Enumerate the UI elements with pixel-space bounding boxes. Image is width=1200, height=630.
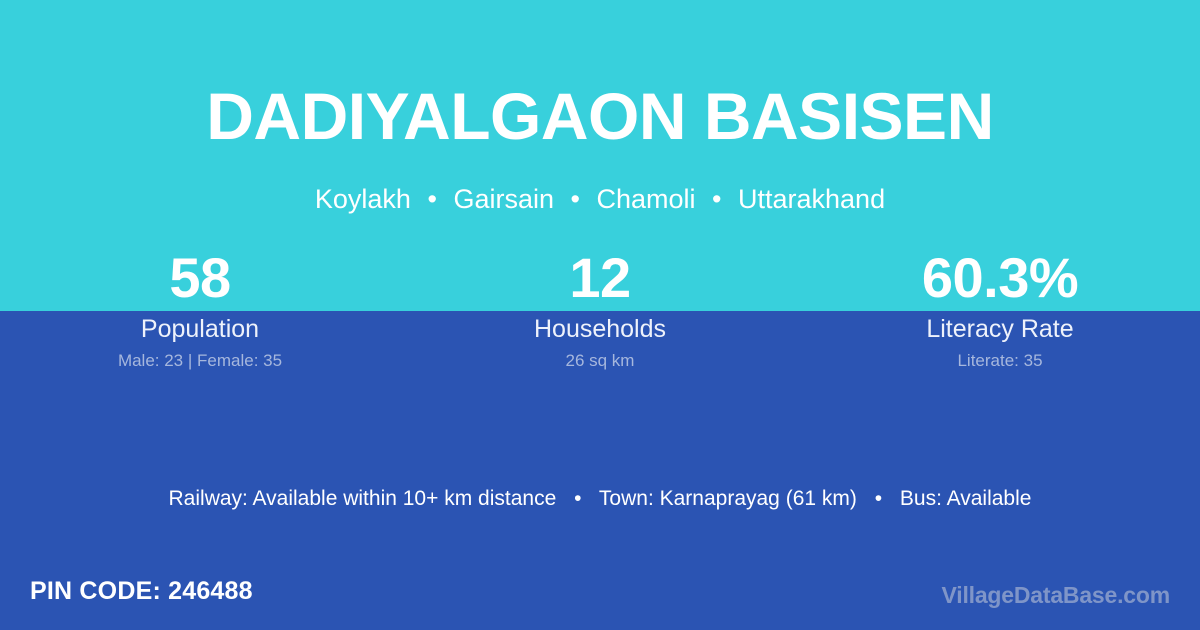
stat-value: 58 [0,246,400,310]
breadcrumb-separator: • [703,184,730,214]
infrastructure-separator: • [562,487,593,510]
breadcrumb-item-district-subunit: Koylakh [315,184,411,214]
breadcrumb-item-district: Chamoli [596,184,695,214]
stat-value: 60.3% [800,246,1200,310]
page-title: DADIYALGAON BASISEN [0,82,1200,151]
breadcrumb: Koylakh • Gairsain • Chamoli • Uttarakha… [0,183,1200,215]
breadcrumb-separator: • [418,184,445,214]
breadcrumb-item-state: Uttarakhand [738,184,885,214]
breadcrumb-item-block: Gairsain [453,184,554,214]
infrastructure-line: Railway: Available within 10+ km distanc… [0,485,1200,513]
stat-label: Population [0,314,400,344]
stat-label: Households [400,314,800,344]
stats-row: 58 Population Male: 23 | Female: 35 12 H… [0,246,1200,371]
stat-literacy-rate: 60.3% Literacy Rate Literate: 35 [800,246,1200,371]
stat-population: 58 Population Male: 23 | Female: 35 [0,246,400,371]
infrastructure-bus: Bus: Available [900,487,1032,510]
breadcrumb-separator: • [562,184,589,214]
stat-households: 12 Households 26 sq km [400,246,800,371]
infrastructure-separator: • [863,487,894,510]
site-brand: VillageDataBase.com [942,580,1170,610]
stat-value: 12 [400,246,800,310]
stat-subtext: Literate: 35 [800,351,1200,371]
infrastructure-railway: Railway: Available within 10+ km distanc… [169,487,557,510]
stat-subtext: Male: 23 | Female: 35 [0,351,400,371]
village-info-card: DADIYALGAON BASISEN Koylakh • Gairsain •… [0,0,1200,630]
infrastructure-town: Town: Karnaprayag (61 km) [599,487,857,510]
stat-label: Literacy Rate [800,314,1200,344]
stat-subtext: 26 sq km [400,351,800,371]
pin-code: PIN CODE: 246488 [30,575,253,607]
